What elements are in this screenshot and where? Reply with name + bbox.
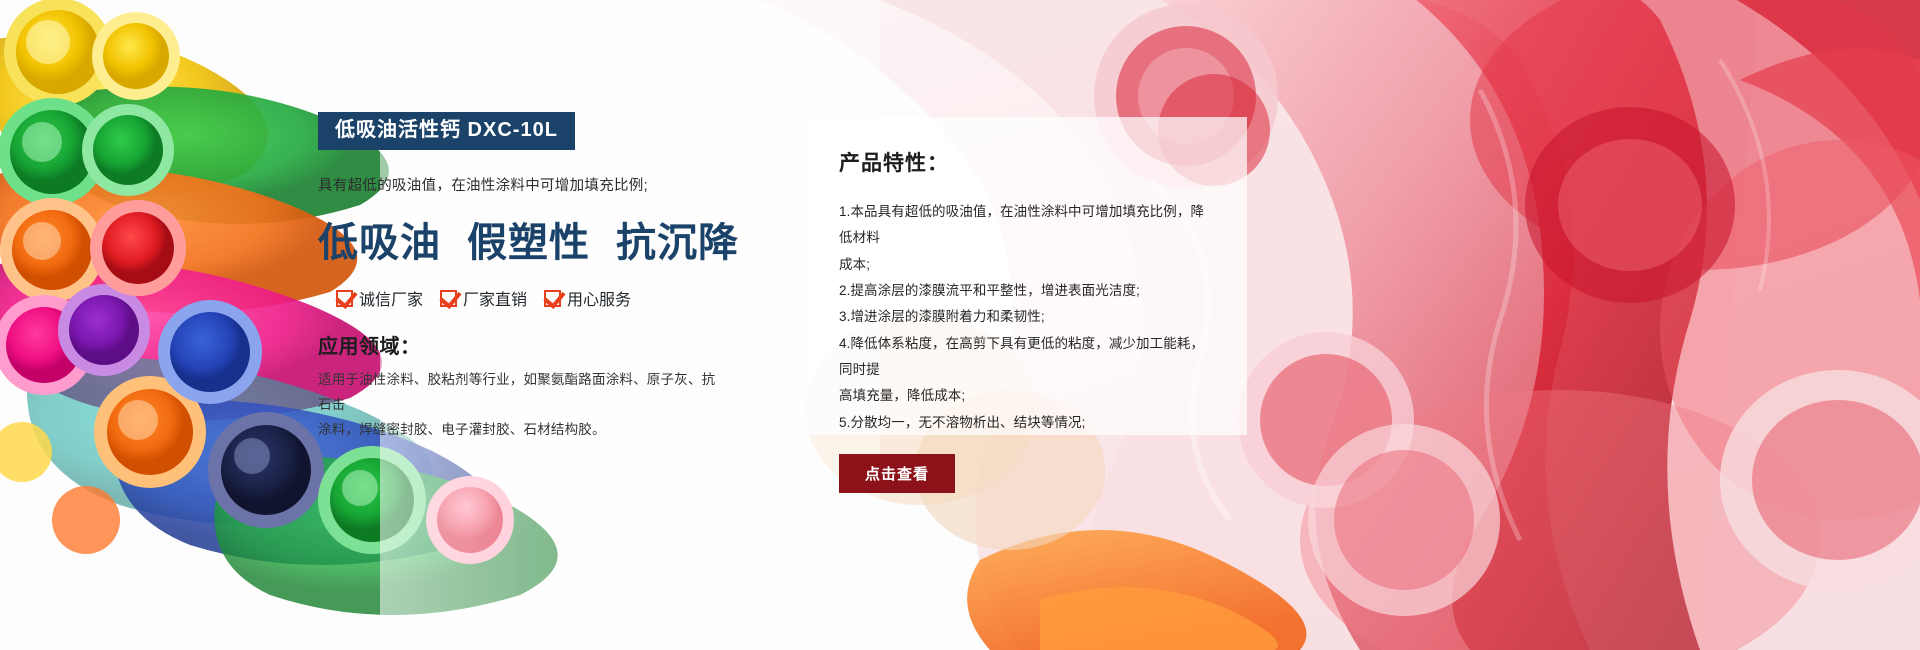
headline-word-2: 假塑性 (467, 220, 590, 265)
headline-word-3: 抗沉降 (616, 220, 739, 265)
feature-list-item: 2.提高涂层的漆膜流平和平整性，增进表面光洁度; (839, 278, 1213, 304)
application-title: 应用领域： (318, 330, 738, 359)
product-banner: 低吸油活性钙 DXC-10L 具有超低的吸油值，在油性涂料中可增加填充比例; 低… (0, 0, 1920, 650)
check-icon (336, 290, 353, 307)
application-desc-line-1: 适用于油性涂料、胶粘剂等行业，如聚氨酯路面涂料、原子灰、抗石击 (318, 372, 715, 412)
feature-label-2: 厂家直销 (463, 286, 527, 310)
trust-feature-row: 诚信厂家 厂家直销 用心服务 (336, 286, 738, 310)
feature-item-3: 用心服务 (544, 286, 631, 310)
feature-list-item: 3.增进涂层的漆膜附着力和柔韧性; (839, 304, 1213, 330)
application-description: 适用于油性涂料、胶粘剂等行业，如聚氨酯路面涂料、原子灰、抗石击 涂料，焊缝密封胶… (318, 368, 718, 443)
check-icon (440, 290, 457, 307)
left-content-block: 低吸油活性钙 DXC-10L 具有超低的吸油值，在油性涂料中可增加填充比例; 低… (318, 112, 738, 443)
feature-item-1: 诚信厂家 (336, 286, 423, 310)
headline-word-1: 低吸油 (318, 220, 441, 265)
feature-list: 1.本品具有超低的吸油值，在油性涂料中可增加填充比例，降低材料 成本; 2.提高… (839, 199, 1213, 436)
feature-item-2: 厂家直销 (440, 286, 527, 310)
panel-title: 产品特性： (839, 147, 1213, 177)
feature-list-item: 高填充量，降低成本; (839, 383, 1213, 409)
feature-list-item: 4.降低体系粘度，在高剪下具有更低的粘度，减少加工能耗，同时提 (839, 331, 1213, 384)
check-icon (544, 290, 561, 307)
feature-label-3: 用心服务 (567, 286, 631, 310)
product-features-panel: 产品特性： 1.本品具有超低的吸油值，在油性涂料中可增加填充比例，降低材料 成本… (805, 117, 1247, 435)
feature-list-item: 5.分散均一，无不溶物析出、结块等情况; (839, 410, 1213, 436)
product-title-badge: 低吸油活性钙 DXC-10L (318, 112, 575, 150)
view-details-button[interactable]: 点击查看 (839, 454, 955, 493)
headline-keywords: 低吸油假塑性抗沉降 (318, 210, 738, 268)
feature-label-1: 诚信厂家 (359, 286, 423, 310)
product-subtitle: 具有超低的吸油值，在油性涂料中可增加填充比例; (318, 174, 738, 195)
application-desc-line-2: 涂料，焊缝密封胶、电子灌封胶、石材结构胶。 (318, 422, 606, 437)
feature-list-item: 1.本品具有超低的吸油值，在油性涂料中可增加填充比例，降低材料 (839, 199, 1213, 252)
feature-list-item: 成本; (839, 252, 1213, 278)
